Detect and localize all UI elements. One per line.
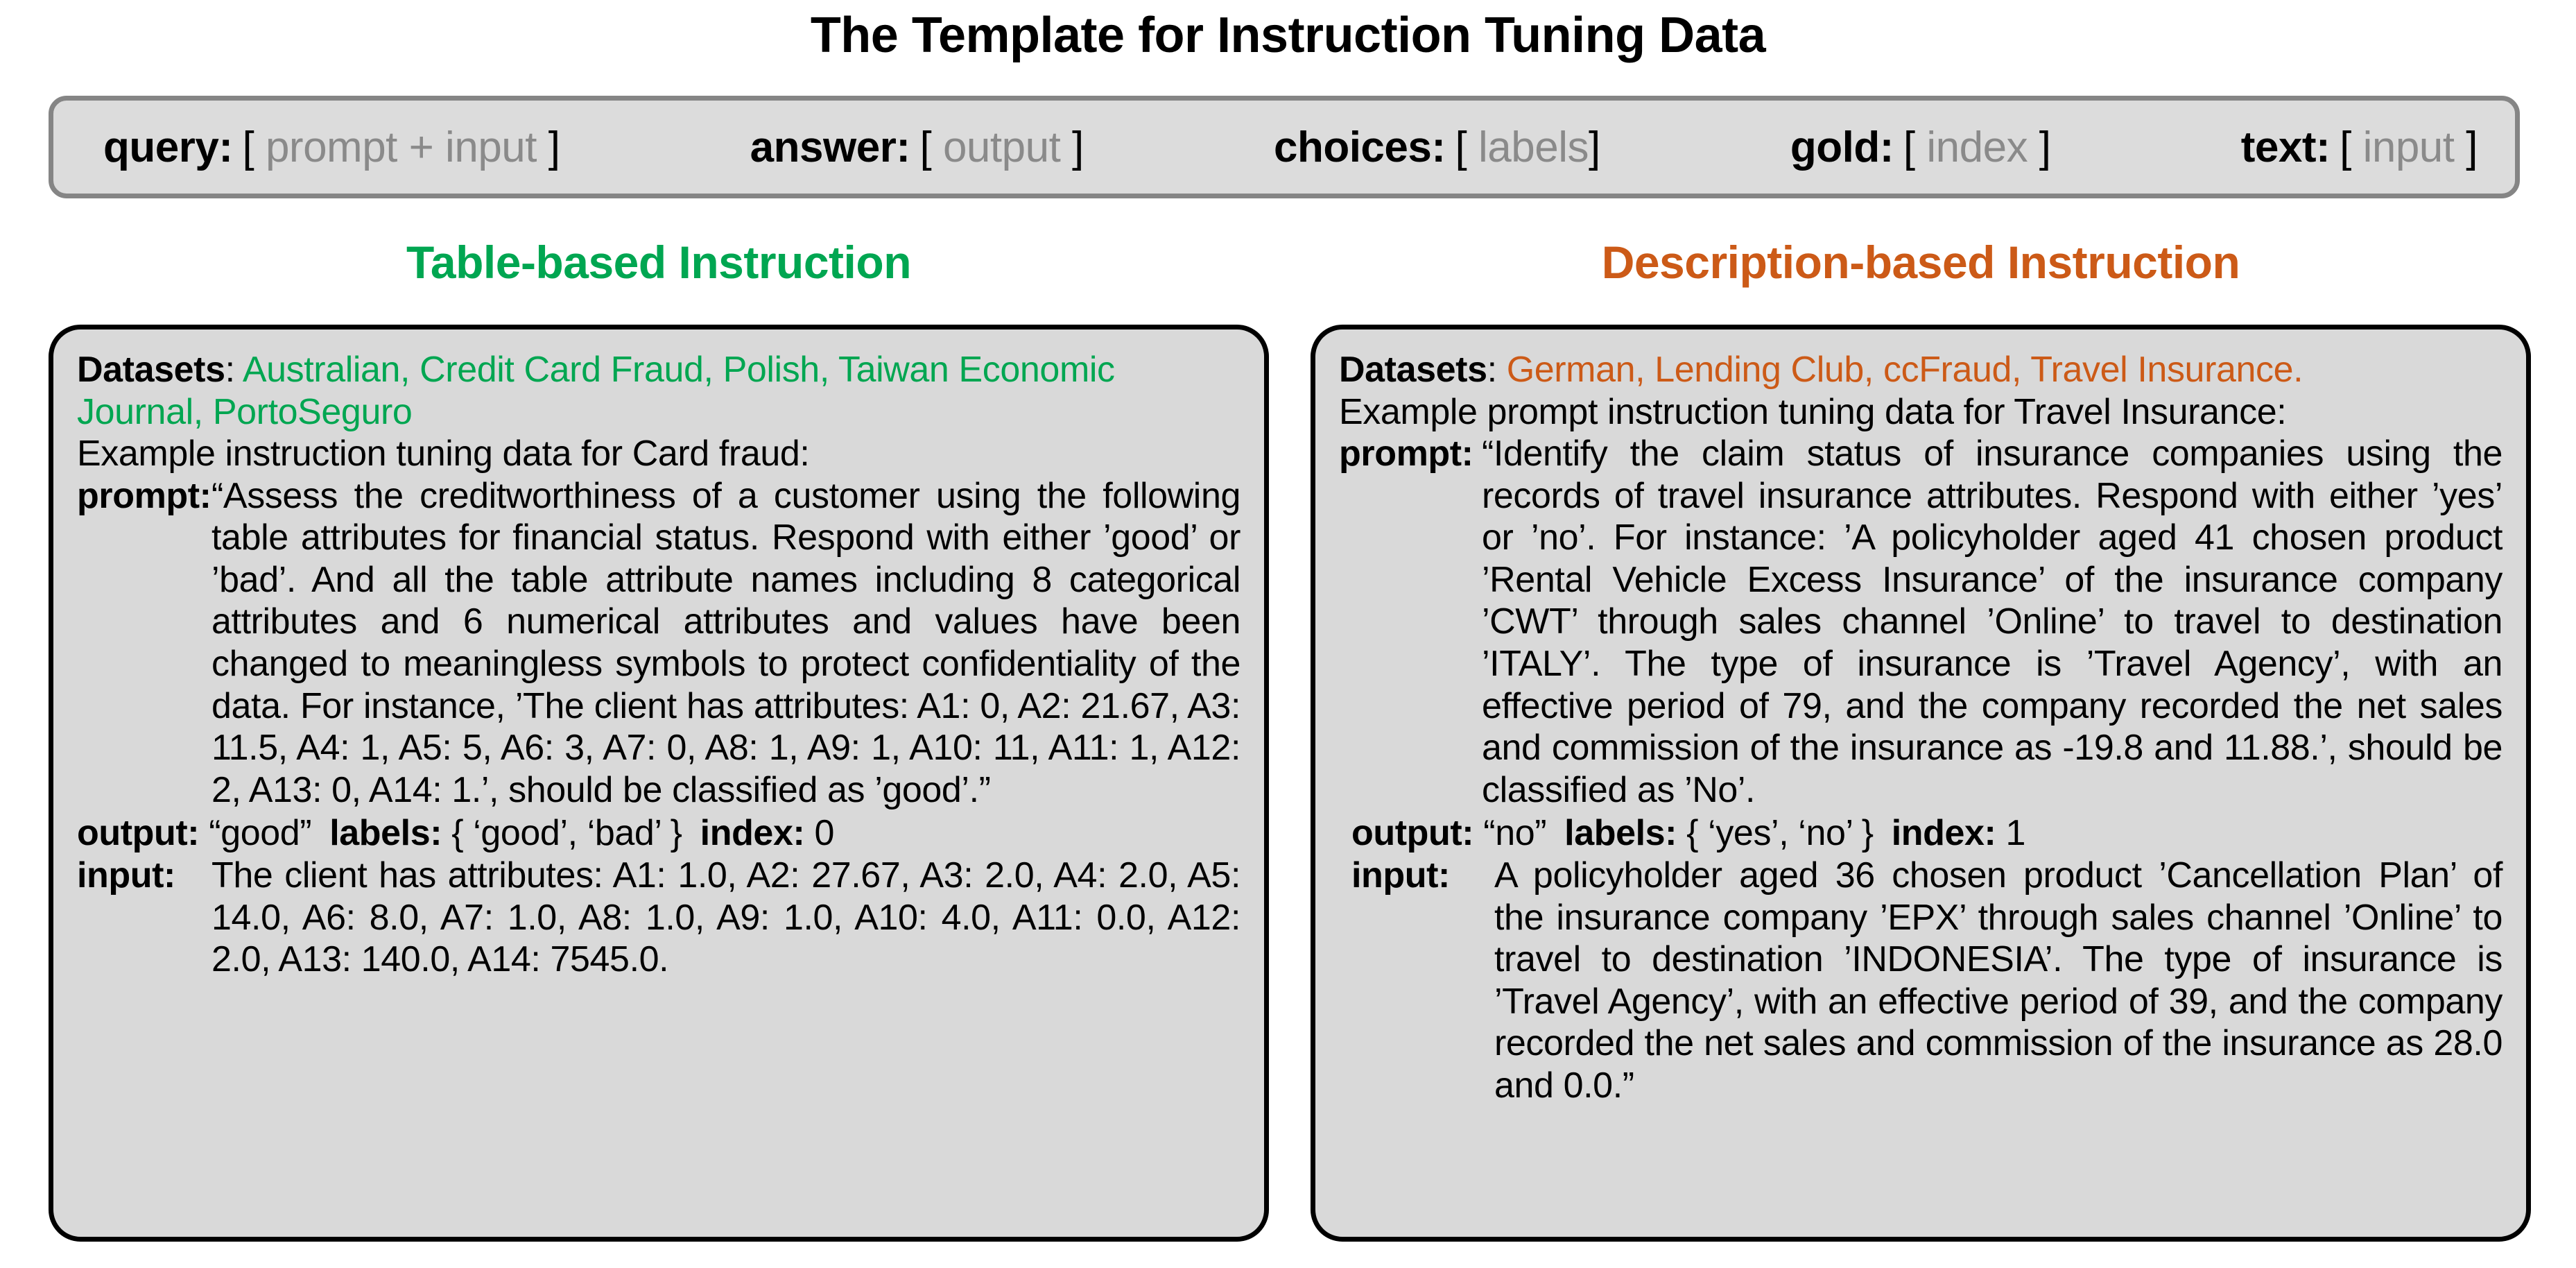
placeholder-prompt-input: prompt + input [266, 123, 537, 171]
right-input-text: A policyholder aged 36 chosen product ’C… [1494, 855, 2502, 1106]
template-bar: query: [ prompt + input ] answer: [ outp… [49, 96, 2520, 198]
left-input-text: The client has attributes: A1: 1.0, A2: … [211, 855, 1241, 981]
right-datasets-line: Datasets: German, Lending Club, ccFraud,… [1339, 349, 2502, 391]
right-example-line: Example prompt instruction tuning data f… [1339, 391, 2502, 434]
template-field-choices: choices: [ labels] [1274, 123, 1600, 172]
placeholder-index: index [1926, 123, 2028, 171]
template-field-gold: gold: [ index ] [1790, 123, 2051, 172]
template-value-choices: [ labels] [1455, 123, 1600, 172]
left-labels-value: { ‘good’, ‘bad’ } [451, 813, 682, 853]
left-index-value: 0 [814, 813, 834, 853]
right-prompt-label: prompt: [1339, 433, 1482, 475]
left-prompt-block: prompt: “Assess the creditworthiness of … [77, 475, 1241, 812]
template-field-answer: answer: [ output ] [750, 123, 1084, 172]
right-prompt-block: prompt: “Identify the claim status of in… [1339, 433, 2502, 811]
template-field-text: text: [ input ] [2241, 123, 2478, 172]
template-key-text: text: [2241, 123, 2330, 172]
template-value-gold: [ index ] [1903, 123, 2051, 172]
left-output-value: “good” [209, 813, 311, 853]
template-value-query: [ prompt + input ] [242, 123, 560, 172]
figure-root: The Template for Instruction Tuning Data… [0, 0, 2576, 1268]
right-output-row: output: “no”labels: { ‘yes’, ‘no’ }index… [1351, 812, 2502, 855]
template-key-answer: answer: [750, 123, 910, 172]
left-index-label: index: [700, 813, 805, 853]
right-output-label: output: [1351, 813, 1473, 853]
bracket-close: ] [2455, 123, 2478, 171]
right-output-value: “no” [1483, 813, 1546, 853]
bracket-open: [ [242, 123, 265, 171]
bracket-close: ] [537, 123, 560, 171]
description-based-instruction-panel: Datasets: German, Lending Club, ccFraud,… [1311, 325, 2531, 1242]
bracket-open: [ [1903, 123, 1926, 171]
bracket-open: [ [919, 123, 942, 171]
template-key-choices: choices: [1274, 123, 1446, 172]
left-output-label: output: [77, 813, 199, 853]
right-index-value: 1 [2006, 813, 2026, 853]
template-key-query: query: [103, 123, 232, 172]
left-prompt-label: prompt: [77, 475, 211, 517]
bracket-close: ] [1589, 123, 1600, 171]
right-datasets-value: German, Lending Club, ccFraud, Travel In… [1507, 350, 2303, 390]
placeholder-input: input [2363, 123, 2455, 171]
left-datasets-line: Datasets: Australian, Credit Card Fraud,… [77, 349, 1241, 433]
page-title: The Template for Instruction Tuning Data [0, 7, 2576, 65]
section-heading-table-based: Table-based Instruction [49, 236, 1269, 289]
left-example-line: Example instruction tuning data for Card… [77, 433, 1241, 475]
right-prompt-text: “Identify the claim status of insurance … [1482, 433, 2502, 811]
template-value-answer: [ output ] [919, 123, 1083, 172]
right-datasets-separator: : [1487, 350, 1507, 390]
bracket-close: ] [1060, 123, 1083, 171]
placeholder-output: output [943, 123, 1060, 171]
left-datasets-separator: : [225, 350, 243, 390]
right-datasets-label: Datasets [1339, 350, 1487, 390]
left-datasets-label: Datasets [77, 350, 225, 390]
bracket-open: [ [1455, 123, 1478, 171]
bracket-open: [ [2340, 123, 2362, 171]
section-heading-description-based: Description-based Instruction [1311, 236, 2531, 289]
left-labels-label: labels: [329, 813, 442, 853]
left-input-block: input: The client has attributes: A1: 1.… [77, 855, 1241, 981]
right-index-label: index: [1892, 813, 1996, 853]
template-value-text: [ input ] [2340, 123, 2478, 172]
right-labels-value: { ‘yes’, ‘no’ } [1686, 813, 1874, 853]
table-based-instruction-panel: Datasets: Australian, Credit Card Fraud,… [49, 325, 1269, 1242]
right-input-label: input: [1351, 855, 1494, 897]
template-key-gold: gold: [1790, 123, 1894, 172]
right-input-block: input: A policyholder aged 36 chosen pro… [1351, 855, 2502, 1106]
left-output-row: output: “good”labels: { ‘good’, ‘bad’ }i… [77, 812, 1241, 855]
left-prompt-text: “Assess the creditworthiness of a custom… [211, 475, 1241, 812]
template-field-query: query: [ prompt + input ] [103, 123, 560, 172]
right-labels-label: labels: [1564, 813, 1677, 853]
bracket-close: ] [2028, 123, 2050, 171]
left-input-label: input: [77, 855, 211, 897]
placeholder-labels: labels [1478, 123, 1589, 171]
